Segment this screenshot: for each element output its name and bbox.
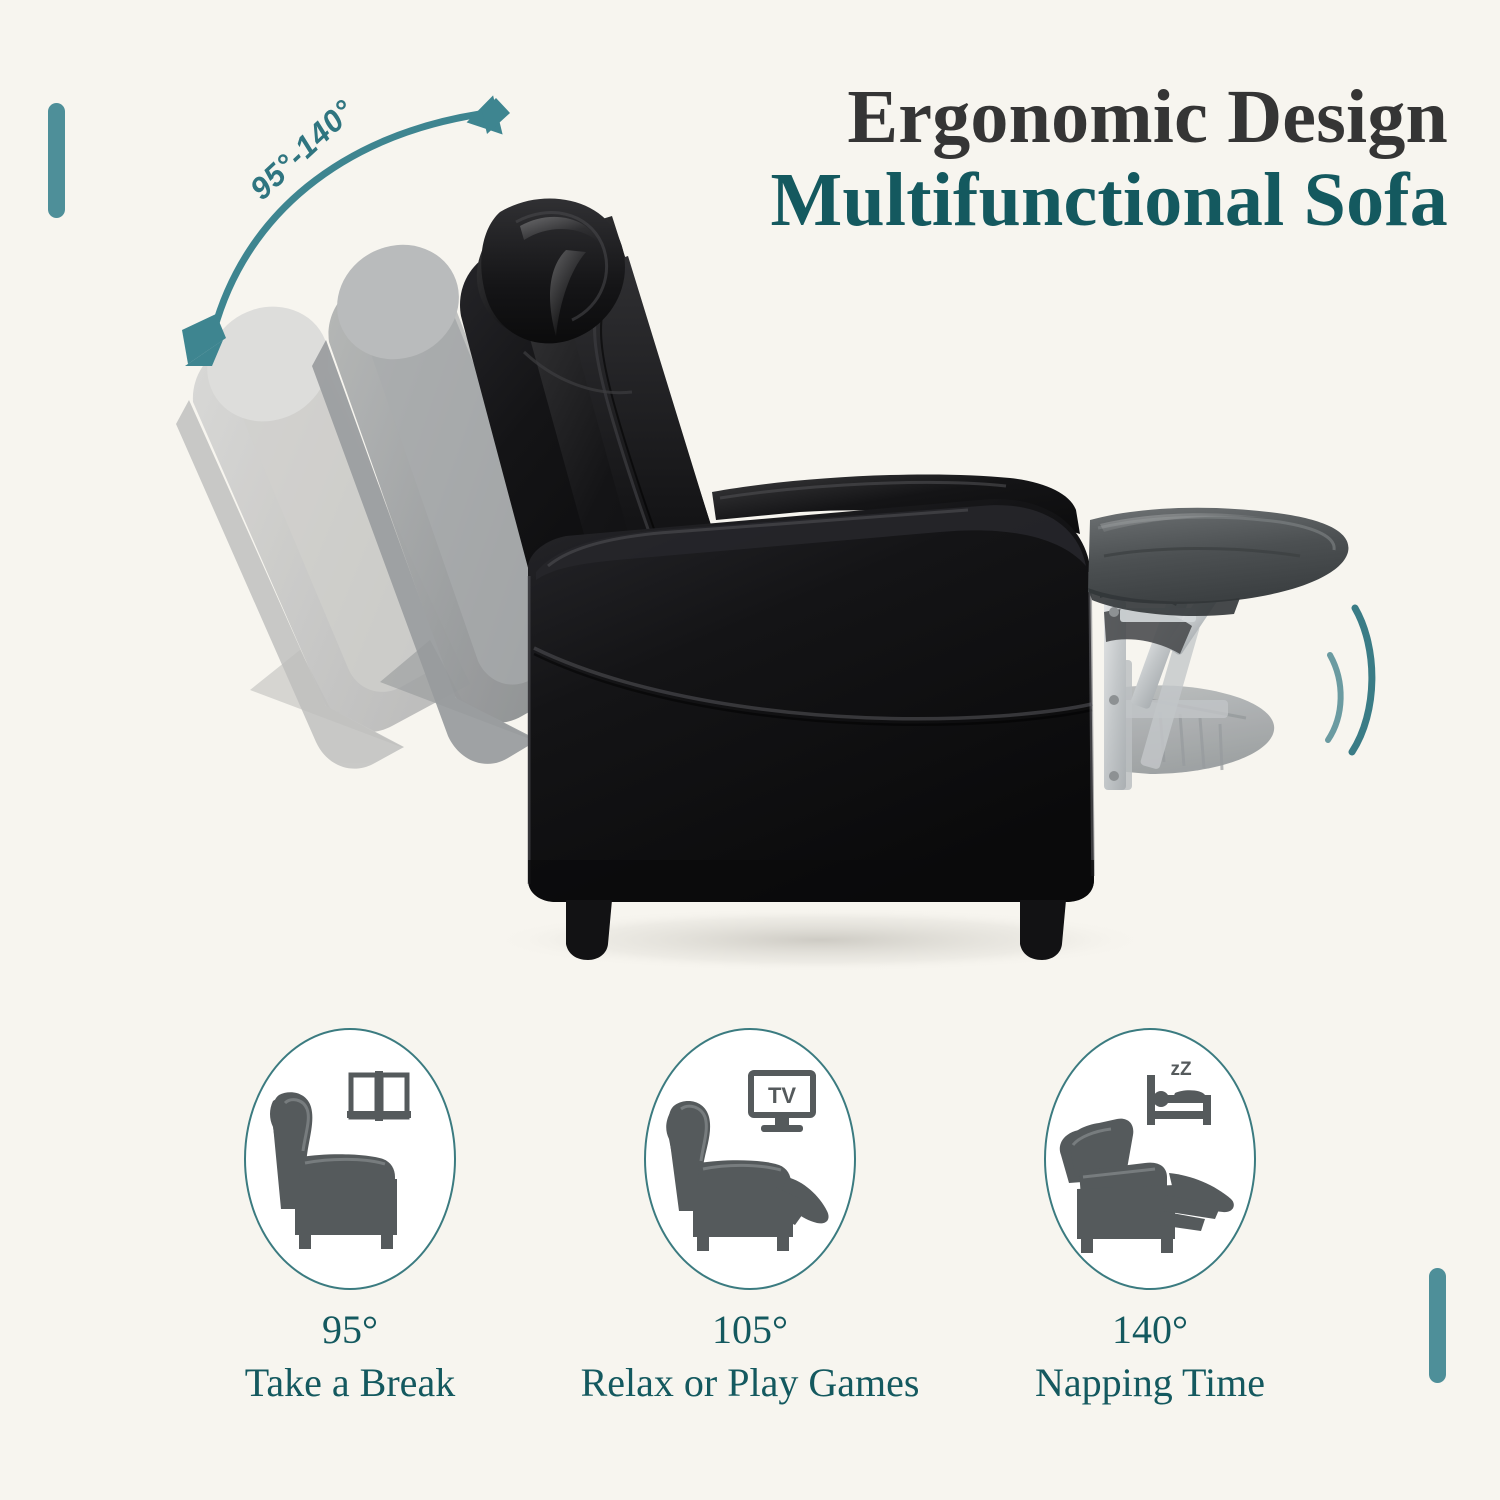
- feature-caption-1: Take a Break: [245, 1359, 455, 1406]
- book-icon: [347, 1071, 411, 1121]
- recliner-hero-illustration: [0, 0, 1500, 1010]
- chair-partial-recline-icon: TV: [655, 1059, 845, 1259]
- front-foot: [566, 900, 612, 960]
- feature-caption-3: Napping Time: [1035, 1359, 1265, 1406]
- chair-full-recline-icon: zZ: [1055, 1059, 1245, 1259]
- tv-label: TV: [768, 1083, 796, 1108]
- feature-caption-2: Relax or Play Games: [581, 1359, 920, 1406]
- feature-icon-circle-2: TV: [644, 1028, 856, 1290]
- feature-angle-3: 140°: [1112, 1306, 1188, 1353]
- tv-icon: TV: [751, 1073, 813, 1132]
- feature-row: 95° Take a Break: [0, 1028, 1500, 1406]
- infographic-stage: Ergonomic Design Multifunctional Sofa: [0, 0, 1500, 1500]
- footrest-motion-arcs: [1328, 608, 1372, 752]
- feature-icon-circle-1: [244, 1028, 456, 1290]
- feature-take-a-break: 95° Take a Break: [150, 1028, 550, 1406]
- feature-icon-circle-3: zZ: [1044, 1028, 1256, 1290]
- footrest-extended: [1088, 508, 1348, 616]
- feature-angle-1: 95°: [322, 1306, 378, 1353]
- feature-angle-2: 105°: [712, 1306, 788, 1353]
- sleep-label: zZ: [1170, 1059, 1192, 1080]
- rear-foot: [1020, 900, 1066, 960]
- chair-upright-icon: [255, 1059, 445, 1259]
- footrest-ghost-position: [1104, 620, 1274, 790]
- feature-napping-time: zZ 140° Napping Time: [950, 1028, 1350, 1406]
- bed-sleep-icon: zZ: [1147, 1059, 1211, 1125]
- feature-relax-or-play-games: TV 105° Relax or Play Games: [550, 1028, 950, 1406]
- recliner-body: [528, 474, 1094, 960]
